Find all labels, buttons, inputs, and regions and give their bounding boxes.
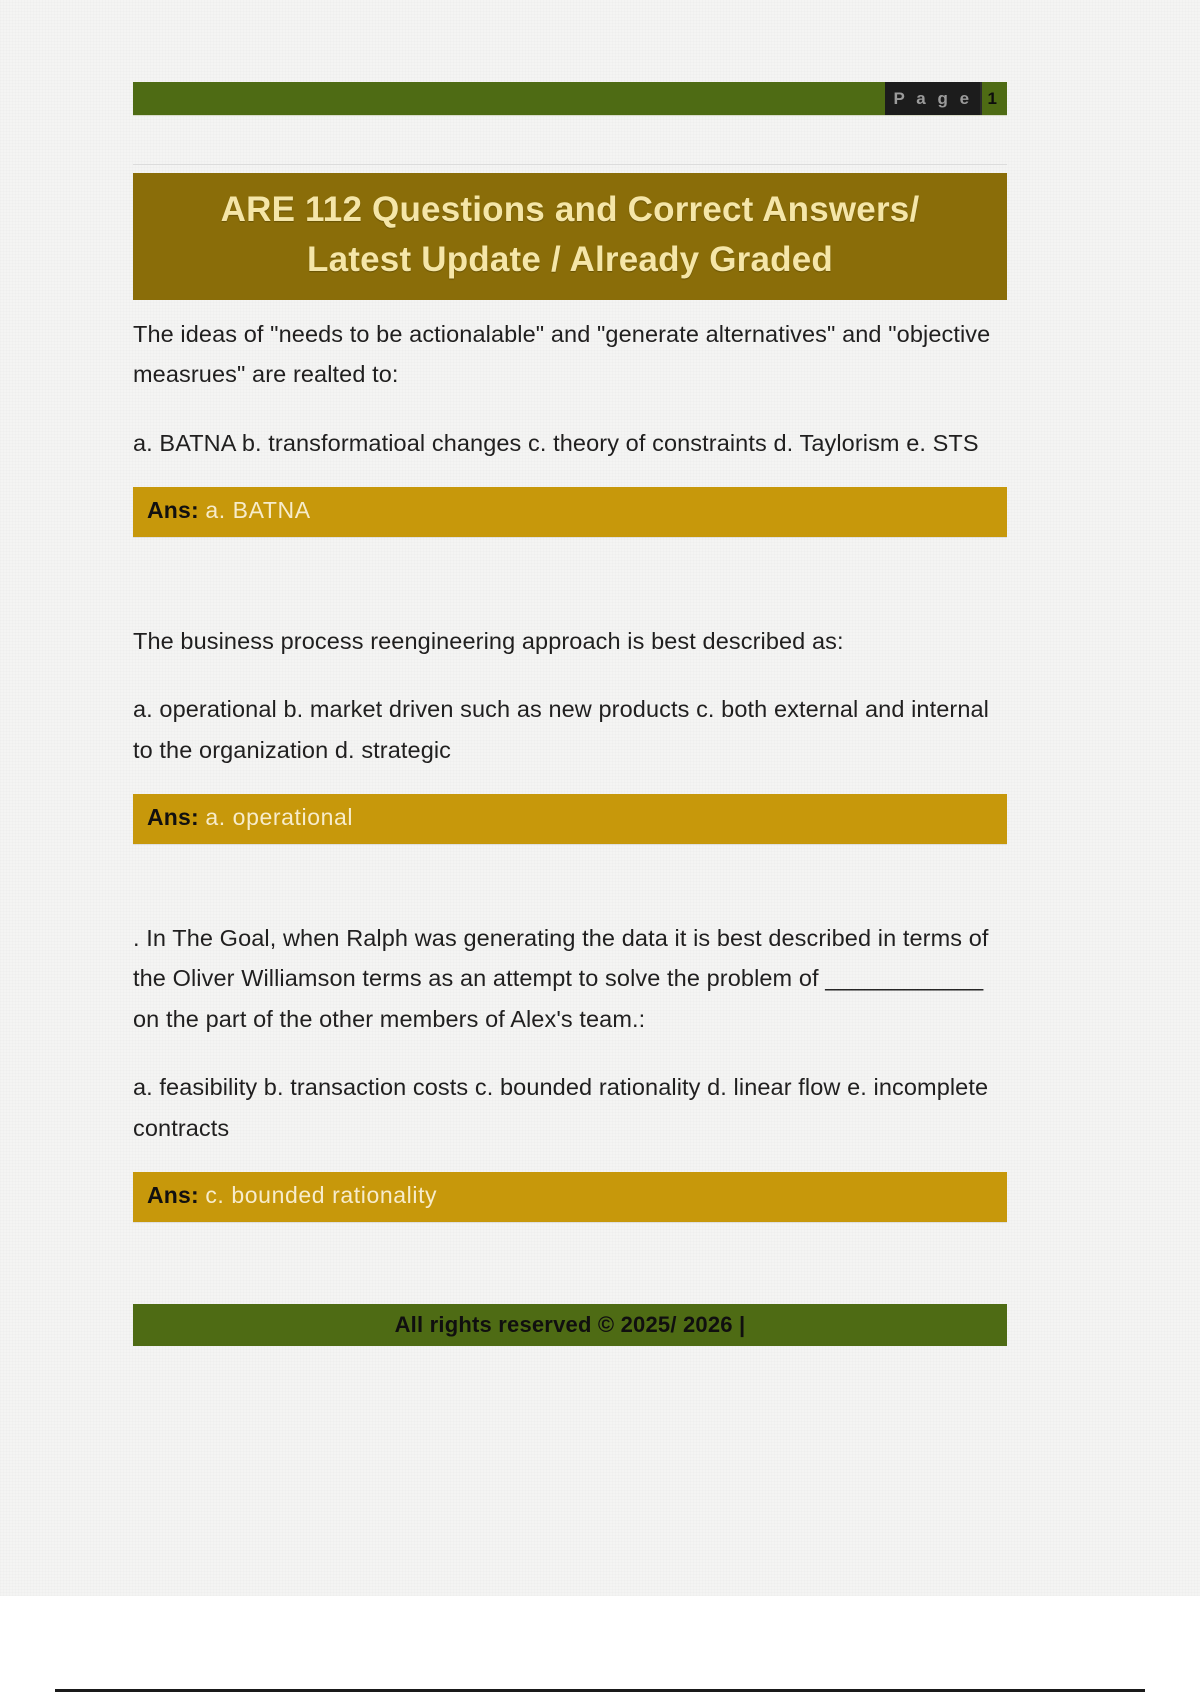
header-divider xyxy=(133,164,1007,165)
page-number: 1 xyxy=(980,82,1007,115)
question-stem: The business process reengineering appro… xyxy=(133,621,1007,661)
block-spacer xyxy=(133,844,1007,904)
answer-bar: Ans: c. bounded rationality xyxy=(133,1172,1007,1222)
question-stem: . In The Goal, when Ralph was generating… xyxy=(133,918,1007,1039)
question-options: a. BATNA b. transformatioal changes c. t… xyxy=(133,423,1007,463)
question-options: a. feasibility b. transaction costs c. b… xyxy=(133,1067,1007,1148)
document-header-band: P a g e 1 xyxy=(133,82,1007,116)
page-title-line-2: Latest Update / Already Graded xyxy=(151,235,989,285)
page-label: P a g e xyxy=(885,82,980,115)
page-title-line-1: ARE 112 Questions and Correct Answers/ xyxy=(151,185,989,235)
document-footer-band: All rights reserved © 2025/ 2026 | xyxy=(133,1304,1007,1346)
page-bottom-rule xyxy=(55,1689,1145,1692)
document-page: P a g e 1 ARE 112 Questions and Correct … xyxy=(0,0,1200,1596)
question-block: . In The Goal, when Ralph was generating… xyxy=(133,918,1007,1222)
question-block: The ideas of "needs to be actionalable" … xyxy=(133,314,1007,537)
content-column: P a g e 1 ARE 112 Questions and Correct … xyxy=(133,0,1007,1346)
answer-label: Ans: xyxy=(147,497,199,523)
block-spacer xyxy=(133,537,1007,607)
block-spacer xyxy=(133,1222,1007,1304)
question-stem: The ideas of "needs to be actionalable" … xyxy=(133,314,1007,395)
answer-value: a. operational xyxy=(205,804,353,830)
answer-value: a. BATNA xyxy=(205,497,310,523)
answer-bar: Ans: a. operational xyxy=(133,794,1007,844)
page-title: ARE 112 Questions and Correct Answers/ L… xyxy=(133,173,1007,300)
footer-text: All rights reserved © 2025/ 2026 | xyxy=(395,1312,746,1338)
answer-label: Ans: xyxy=(147,804,199,830)
question-options: a. operational b. market driven such as … xyxy=(133,689,1007,770)
page-number-badge: P a g e 1 xyxy=(885,82,1007,115)
answer-value: c. bounded rationality xyxy=(205,1182,437,1208)
question-block: The business process reengineering appro… xyxy=(133,621,1007,844)
answer-bar: Ans: a. BATNA xyxy=(133,487,1007,537)
answer-label: Ans: xyxy=(147,1182,199,1208)
